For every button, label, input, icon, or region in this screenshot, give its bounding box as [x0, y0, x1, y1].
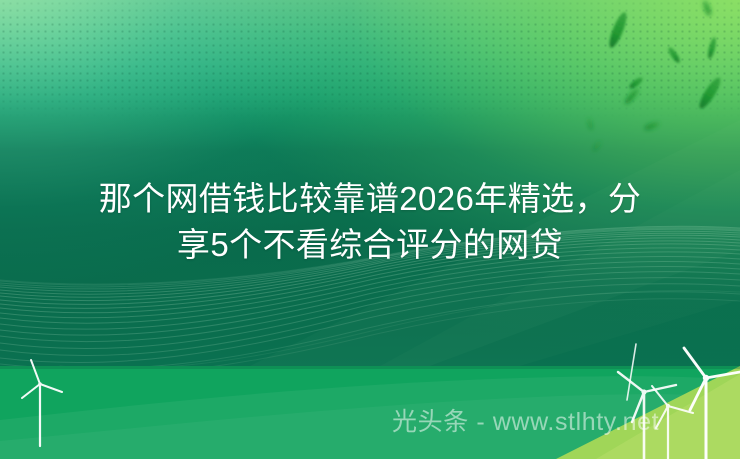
site-watermark: 光头条 - www.stlhty.net — [392, 405, 659, 439]
leaf-2 — [666, 46, 681, 64]
banner-title: 那个网借钱比较靠谱2026年精选，分 享5个不看综合评分的网贷 — [0, 176, 740, 268]
leaf-4 — [701, 0, 712, 17]
leaf-6 — [623, 86, 640, 105]
wind-turbines-group — [22, 344, 740, 459]
falling-leaves-group — [587, 0, 724, 152]
turbine-distant-mast — [627, 344, 636, 400]
band-top-edge — [0, 366, 740, 369]
leaf-9 — [587, 118, 594, 131]
banner-image: 那个网借钱比较靠谱2026年精选，分 享5个不看综合评分的网贷 光头条 - ww… — [0, 0, 740, 459]
leaf-5 — [628, 76, 644, 91]
leaf-1 — [606, 11, 630, 50]
leaf-8 — [643, 120, 660, 131]
title-line-1: 那个网借钱比较靠谱2026年精选，分 — [0, 176, 740, 222]
leaf-10 — [592, 140, 602, 152]
halftone-dot-pattern — [0, 0, 740, 118]
leaf-7 — [696, 75, 724, 111]
title-line-2: 享5个不看综合评分的网贷 — [0, 222, 740, 268]
turbine-left — [22, 360, 62, 446]
leaf-3 — [706, 37, 717, 60]
turbine-cluster-front-right — [684, 348, 740, 459]
